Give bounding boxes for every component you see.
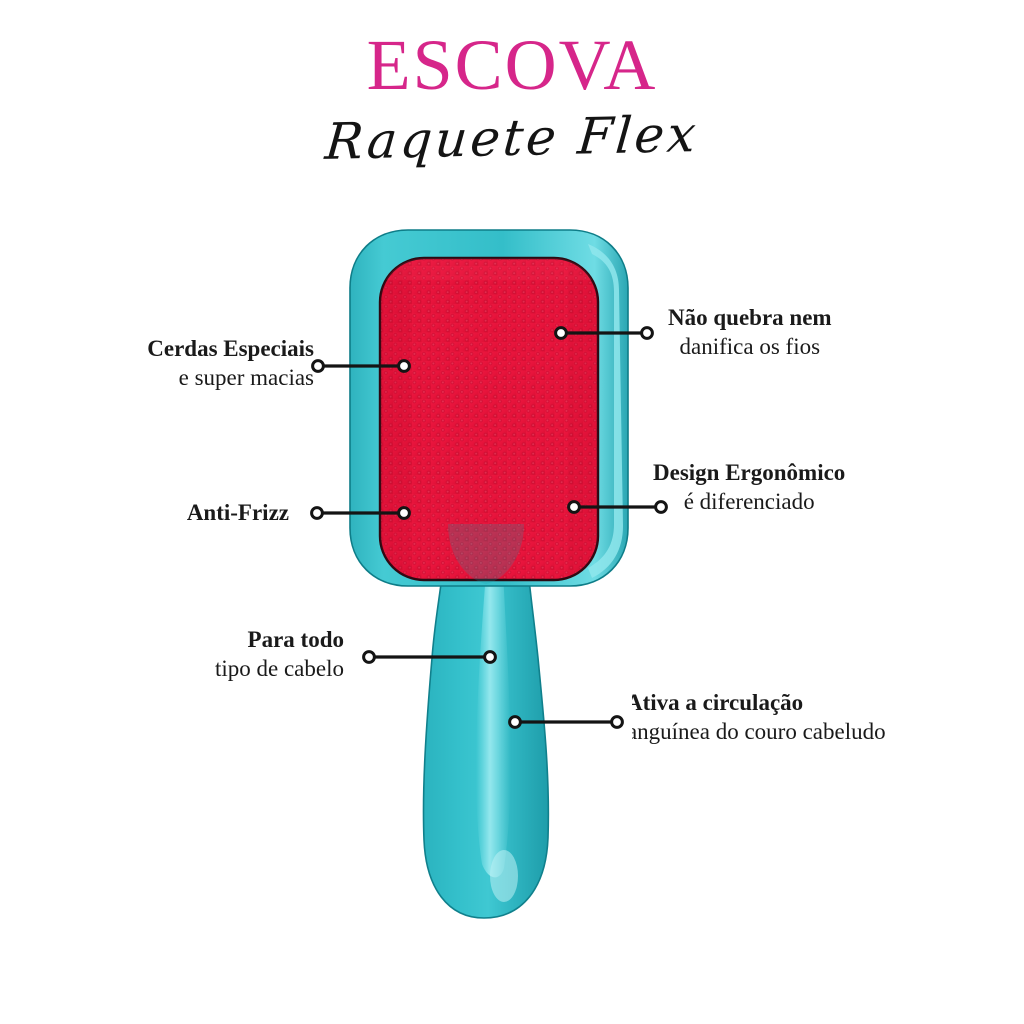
callout-para-todo-line2: tipo de cabelo	[24, 654, 344, 683]
callout-cerdas-line2: e super macias	[24, 363, 314, 392]
callout-design-ergonomico: Design Ergonômico é diferenciado	[653, 458, 845, 516]
callout-anti-frizz: Anti-Frizz	[24, 498, 289, 527]
callout-nao-quebra: Não quebra nem danifica os fios	[668, 303, 832, 361]
title-block: ESCOVA Raquete Flex	[0, 26, 1024, 168]
callout-ativa-circulacao: Ativa a circulação sanguínea do couro ca…	[632, 688, 1024, 746]
callout-anti-frizz-line1: Anti-Frizz	[24, 498, 289, 527]
callout-ativa-line1: Ativa a circulação	[632, 688, 1024, 717]
page-title: ESCOVA	[0, 26, 1024, 104]
callout-para-todo: Para todo tipo de cabelo	[24, 625, 344, 683]
callout-design-line1: Design Ergonômico	[653, 458, 845, 487]
callout-ativa-line2: sanguínea do couro cabeludo	[632, 717, 1024, 746]
callout-cerdas-especiais: Cerdas Especiais e super macias	[24, 334, 314, 392]
product-image-hair-brush	[336, 228, 676, 928]
callout-design-line2: é diferenciado	[653, 487, 845, 516]
callout-nao-quebra-line1: Não quebra nem	[668, 303, 832, 332]
page-subtitle: Raquete Flex	[0, 97, 1024, 178]
callout-cerdas-line1: Cerdas Especiais	[24, 334, 314, 363]
connector-dot-anti-frizz-outer	[312, 508, 323, 519]
connector-dot-cerdas-outer	[313, 361, 324, 372]
callout-para-todo-line1: Para todo	[24, 625, 344, 654]
infographic-canvas: ESCOVA Raquete Flex	[0, 0, 1024, 1024]
callout-nao-quebra-line2: danifica os fios	[668, 332, 832, 361]
handle-bottom-glint	[490, 850, 518, 902]
